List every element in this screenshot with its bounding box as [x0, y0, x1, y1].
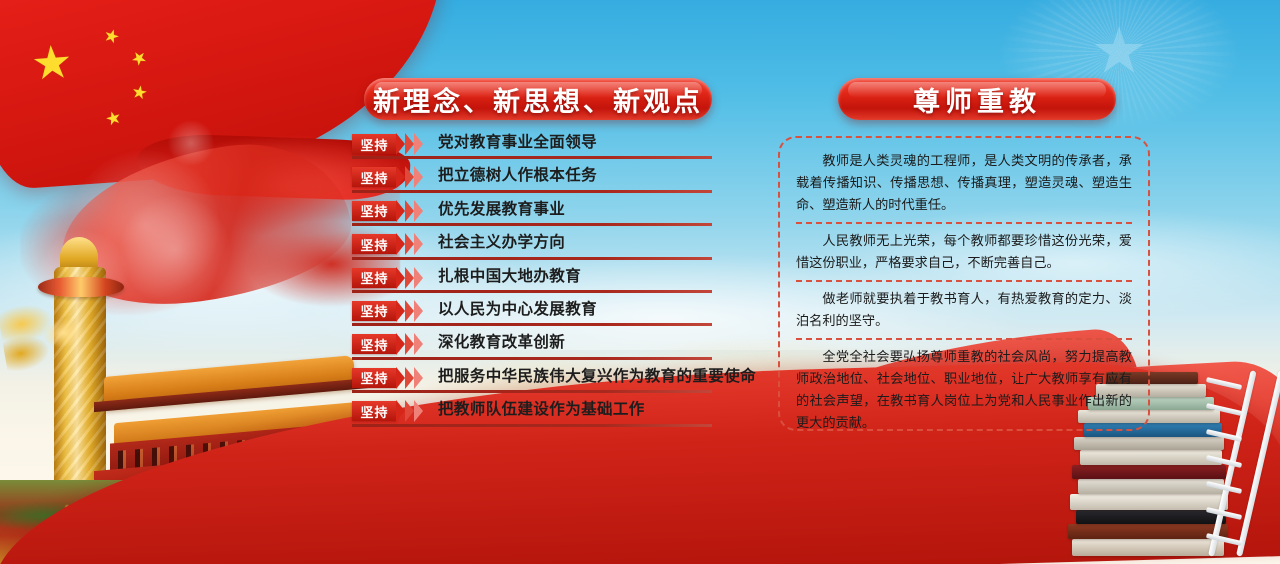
- right-panel-title-text: 尊师重教: [913, 80, 1041, 119]
- star-glyph-icon: ★: [1090, 19, 1147, 83]
- list-item-label: 优先发展教育事业: [438, 199, 565, 221]
- list-item-label: 社会主义办学方向: [438, 232, 565, 254]
- left-panel-title-banner: 新理念、新思想、新观点: [364, 78, 712, 120]
- quote-card: 教师是人类灵魂的工程师，是人类文明的传承者，承载着传播知识、传播思想、传播真理，…: [778, 136, 1150, 431]
- tiananmen-gate-icon: 中华人民共和国万岁 世界人民大团结万岁: [96, 366, 396, 506]
- quote-paragraph: 教师是人类灵魂的工程师，是人类文明的传承者，承载着传播知识、传播思想、传播真理，…: [796, 150, 1132, 222]
- list-item[interactable]: 坚持 把立德树人作根本任务: [352, 165, 714, 198]
- ladder-rung: [1206, 377, 1242, 390]
- persist-badge: 坚持: [352, 334, 397, 354]
- ladder-icon: [1182, 366, 1274, 556]
- gate-banner-left: 中华人民共和国万岁: [132, 468, 258, 496]
- chevron-right-icon: [396, 367, 430, 389]
- chevron-right-icon: [396, 133, 430, 155]
- list-item-label: 扎根中国大地办教育: [438, 266, 581, 288]
- quote-paragraph: 人民教师无上光荣，每个教师都要珍惜这份光荣，爱惜这份职业，严格要求自己，不断完善…: [796, 222, 1132, 280]
- right-panel-title-banner: 尊师重教: [838, 78, 1116, 120]
- list-item-label: 深化教育改革创新: [438, 332, 565, 354]
- persist-badge: 坚持: [352, 268, 397, 288]
- list-item-label: 党对教育事业全面领导: [438, 132, 597, 154]
- list-item-underline: [352, 424, 712, 427]
- list-item-label: 把立德树人作根本任务: [438, 165, 597, 187]
- list-item[interactable]: 坚持 以人民为中心发展教育: [352, 299, 714, 332]
- huabiao-cap: [60, 237, 98, 277]
- lens-flare-2: [120, 195, 230, 305]
- chevron-right-icon: [396, 233, 430, 255]
- gate-lower-roof: [114, 401, 372, 450]
- chevron-right-icon: [396, 267, 430, 289]
- chevron-right-icon: [396, 200, 430, 222]
- flag-small-star-1-icon: ★: [101, 25, 122, 47]
- chevron-right-icon: [396, 166, 430, 188]
- list-item[interactable]: 坚持 扎根中国大地办教育: [352, 266, 714, 299]
- ladder-rung: [1206, 403, 1242, 416]
- persist-badge: 坚持: [352, 301, 397, 321]
- flag-small-star-4-icon: ★: [103, 107, 123, 129]
- chevron-right-icon: [396, 300, 430, 322]
- chevron-right-icon: [396, 333, 430, 355]
- persist-badge: 坚持: [352, 167, 397, 187]
- left-panel-title-text: 新理念、新思想、新观点: [373, 80, 703, 119]
- gate-lantern-gallery: [110, 420, 376, 477]
- poster-canvas: ★ ★ ★ ★ ★ ★ 中华人民共和国万岁 世界人民大团结万岁: [0, 0, 1280, 564]
- flag-pole-4: [366, 444, 368, 476]
- flag-small-star-3-icon: ★: [130, 82, 149, 103]
- list-item[interactable]: 坚持 党对教育事业全面领导: [352, 132, 714, 165]
- quote-paragraph: 全党全社会要弘扬尊师重教的社会风尚，努力提高教师政治地位、社会地位、职业地位，让…: [796, 338, 1132, 440]
- huabiao-cloud-board: [0, 287, 108, 383]
- list-item-underline: [352, 156, 712, 159]
- list-item-underline: [352, 190, 712, 193]
- tree-icon: [392, 470, 438, 504]
- huabiao-shaft: [54, 267, 106, 517]
- list-item-underline: [352, 323, 712, 326]
- lens-flare-1: [70, 150, 220, 300]
- list-item-underline: [352, 257, 712, 260]
- gate-upper-roof: [104, 355, 354, 411]
- flag-poles-group: [310, 444, 400, 484]
- list-item[interactable]: 坚持 社会主义办学方向: [352, 232, 714, 265]
- gate-banner-right: 世界人民大团结万岁: [296, 484, 382, 506]
- huabiao-ring: [38, 277, 124, 297]
- lens-flare-4: [168, 120, 214, 166]
- red-silk-ribbon-fold: [51, 131, 359, 320]
- persist-badge: 坚持: [352, 401, 397, 421]
- lens-flare-3: [38, 230, 128, 320]
- gate-eave: [94, 378, 370, 412]
- persist-badge: 坚持: [352, 134, 397, 154]
- flag-pole-3: [348, 444, 350, 476]
- list-item-underline: [352, 290, 712, 293]
- list-item[interactable]: 坚持 把服务中华民族伟大复兴作为教育的重要使命: [352, 366, 714, 399]
- list-item-underline: [352, 223, 712, 226]
- chevron-right-icon: [396, 400, 430, 422]
- list-item[interactable]: 坚持 深化教育改革创新: [352, 332, 714, 365]
- list-item-underline: [352, 357, 712, 360]
- persist-badge: 坚持: [352, 368, 397, 388]
- list-item[interactable]: 坚持 把教师队伍建设作为基础工作: [352, 399, 714, 432]
- huabiao-base: [32, 493, 128, 527]
- ladder-rail-right: [1236, 370, 1280, 556]
- list-item-label: 把教师队伍建设作为基础工作: [438, 399, 645, 421]
- flag-stars-group: ★ ★ ★ ★ ★: [29, 22, 225, 130]
- gate-wall: [94, 445, 394, 523]
- flag-big-star-icon: ★: [30, 38, 74, 87]
- flower-bed: [0, 480, 560, 564]
- list-item-label: 把服务中华民族伟大复兴作为教育的重要使命: [438, 366, 756, 388]
- flag-pole-1: [312, 444, 314, 476]
- persist-badge: 坚持: [352, 201, 397, 221]
- red-silk-ribbon: [20, 110, 400, 330]
- flag-small-star-2-icon: ★: [127, 46, 151, 70]
- mao-portrait: [264, 477, 286, 507]
- principles-list: 坚持 党对教育事业全面领导 坚持 把立德树人作根本任务 坚持 优先发展教育事业 …: [352, 132, 714, 433]
- list-item[interactable]: 坚持 优先发展教育事业: [352, 199, 714, 232]
- quote-paragraph: 做老师就要执着于教书育人，有热爱教育的定力、淡泊名利的坚守。: [796, 280, 1132, 338]
- flag-pole-2: [330, 444, 332, 476]
- list-item-underline: [352, 390, 712, 393]
- list-item-label: 以人民为中心发展教育: [438, 299, 597, 321]
- persist-badge: 坚持: [352, 234, 397, 254]
- huabiao-column-icon: [8, 225, 128, 515]
